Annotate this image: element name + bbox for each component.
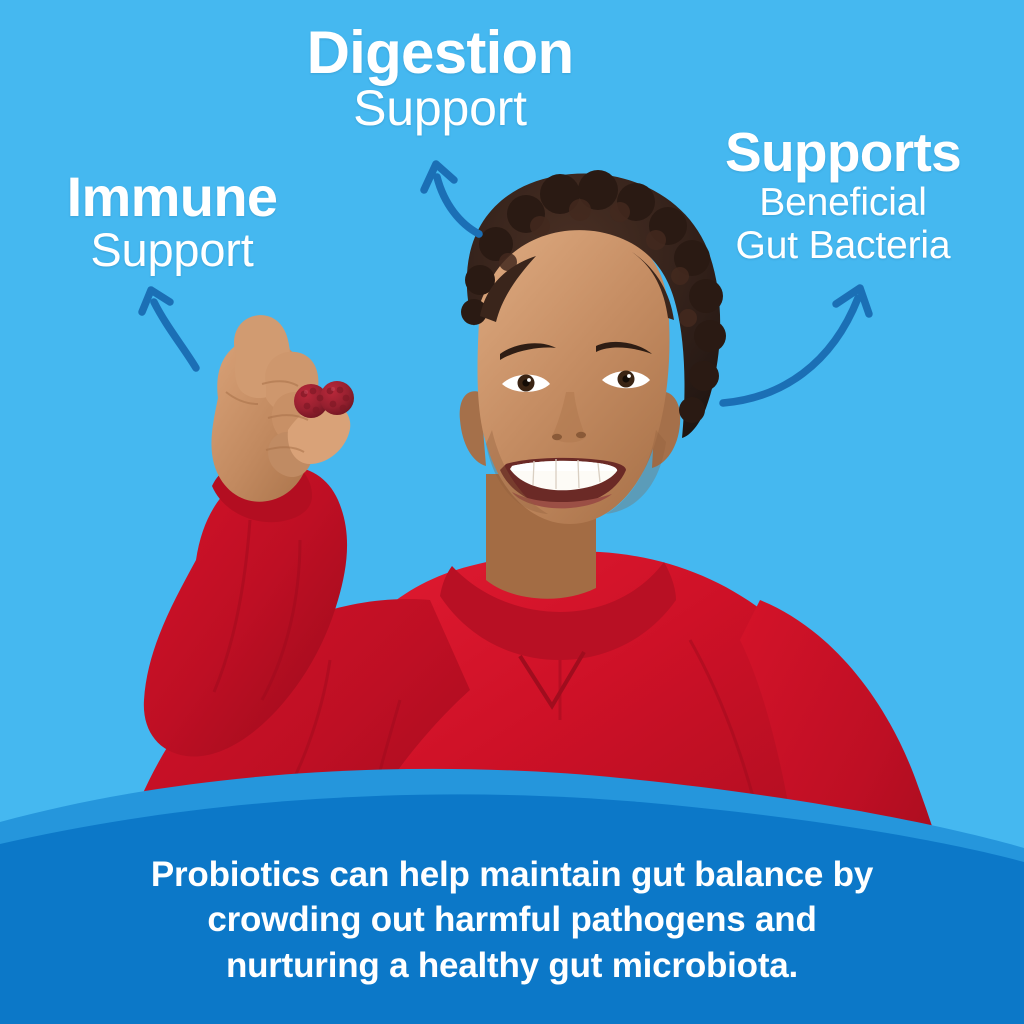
banner-copy: Probiotics can help maintain gut balance… — [0, 852, 1024, 989]
callout-bacteria-strong: Supports — [678, 126, 1008, 180]
callout-immune-support: Immune Support — [22, 170, 322, 273]
nostril-left — [552, 434, 562, 440]
banner-line-3: nurturing a healthy gut microbiota. — [80, 943, 944, 989]
banner-line-2: crowding out harmful pathogens and — [80, 897, 944, 943]
callout-bacteria-line-1: Beneficial — [678, 183, 1008, 224]
banner-line-1: Probiotics can help maintain gut balance… — [80, 852, 944, 898]
raised-hand — [211, 315, 354, 502]
callout-digestion-support: Digestion Support — [270, 24, 610, 133]
callout-digestion-regular: Support — [270, 84, 610, 133]
callout-immune-strong: Immune — [22, 170, 322, 225]
callout-immune-regular: Support — [22, 227, 322, 273]
nostril-right — [576, 432, 586, 438]
callout-digestion-strong: Digestion — [270, 24, 610, 83]
infographic-canvas: Immune Support Digestion Support Support… — [0, 0, 1024, 1024]
callout-bacteria-line-2: Gut Bacteria — [678, 226, 1008, 267]
callout-supports-beneficial-gut-bacteria: Supports Beneficial Gut Bacteria — [678, 126, 1008, 267]
